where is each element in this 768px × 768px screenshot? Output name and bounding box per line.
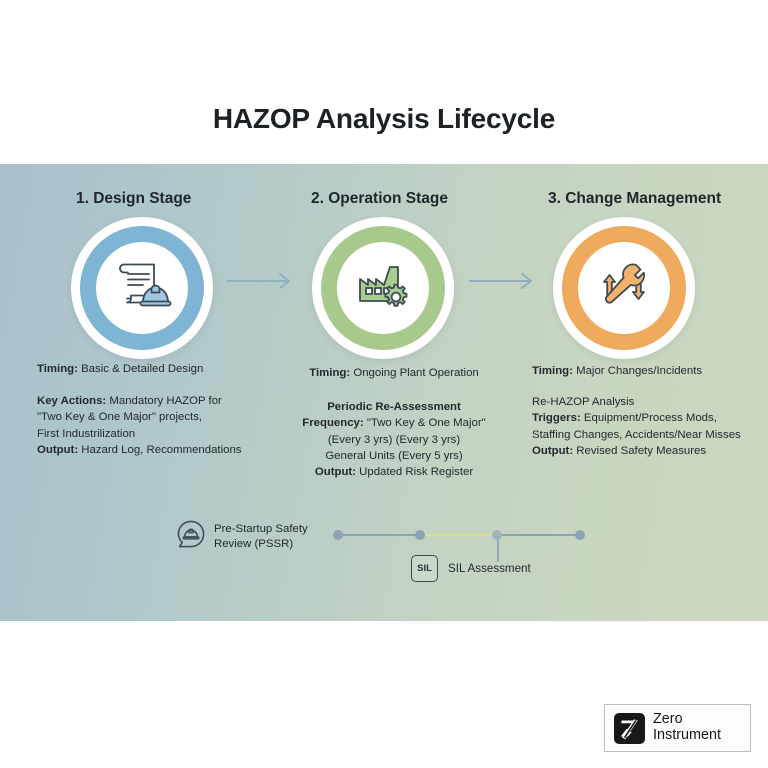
detail-line: First Industrilization xyxy=(37,426,287,442)
infographic-canvas: HAZOP Analysis Lifecycle 1. Design Stage… xyxy=(0,0,768,768)
timing-label-operation: Timing: xyxy=(309,367,350,379)
timeline-segment-1 xyxy=(338,534,420,536)
sil-badge: SIL xyxy=(411,555,438,582)
detail-label: Periodic Re-Assessment xyxy=(327,401,461,413)
stage-details-design: Timing: Basic & Detailed Design Key Acti… xyxy=(37,361,287,458)
spacer xyxy=(532,379,764,394)
stage-details-change-management: Timing: Major Changes/Incidents Re-HAZOP… xyxy=(532,363,764,459)
spacer xyxy=(283,381,505,399)
detail-line: Frequency: "Two Key & One Major" xyxy=(283,415,505,431)
hardhat-speech-bubble-icon xyxy=(176,519,206,554)
logo-text-line1: Zero xyxy=(653,712,721,728)
timeline-section: Pre-Startup Safety Review (PSSR) SIL SIL… xyxy=(0,508,768,598)
timing-label-design: Timing: xyxy=(37,363,78,375)
detail-line: General Units (Every 5 yrs) xyxy=(283,448,505,464)
detail-value: Mandatory HAZOP for xyxy=(106,395,222,407)
page-title: HAZOP Analysis Lifecycle xyxy=(0,103,768,135)
stage-icon-wrap-operation xyxy=(337,242,429,334)
detail-line: Output: Hazard Log, Recommendations xyxy=(37,442,287,458)
detail-label: Frequency: xyxy=(302,417,363,429)
detail-line: Periodic Re-Assessment xyxy=(283,399,505,415)
detail-value: "Two Key & One Major" xyxy=(364,417,486,429)
detail-label: Key Actions: xyxy=(37,395,106,407)
logo-text-line2: Instrument xyxy=(653,728,721,744)
timeline-track xyxy=(338,530,580,540)
detail-value: Staffing Changes, Accidents/Near Misses xyxy=(532,429,741,441)
detail-value: Updated Risk Register xyxy=(356,466,473,478)
timeline-dot[interactable] xyxy=(575,530,585,540)
stage-heading-operation: 2. Operation Stage xyxy=(311,190,448,208)
stage-heading-change-management: 3. Change Management xyxy=(548,190,721,208)
pssr-label-line1: Pre-Startup Safety xyxy=(214,522,308,536)
stage-icon-wrap-design xyxy=(96,242,188,334)
pssr-label: Pre-Startup Safety Review (PSSR) xyxy=(214,522,308,551)
timing-value-change: Major Changes/Incidents xyxy=(573,365,702,377)
blueprint-hardhat-icon xyxy=(111,260,173,317)
detail-value: (Every 3 yrs) (Every 3 yrs) xyxy=(328,434,460,446)
stage-circle-operation xyxy=(312,217,454,359)
stage-circle-design xyxy=(71,217,213,359)
detail-label: Triggers: xyxy=(532,412,581,424)
stage-details-operation: Timing: Ongoing Plant Operation Periodic… xyxy=(283,365,505,480)
detail-label: Output: xyxy=(532,445,573,457)
pssr-label-line2: Review (PSSR) xyxy=(214,537,308,551)
timing-line-design: Timing: Basic & Detailed Design xyxy=(37,361,287,377)
detail-value: General Units (Every 5 yrs) xyxy=(325,450,462,462)
detail-line: Triggers: Equipment/Process Mods, xyxy=(532,410,764,426)
timeline-dot[interactable] xyxy=(415,530,425,540)
spacer xyxy=(37,377,287,393)
detail-value: Revised Safety Measures xyxy=(573,445,706,457)
brand-logo: Zero Instrument xyxy=(604,704,751,752)
detail-line: Output: Updated Risk Register xyxy=(283,464,505,480)
zero-instrument-logo-icon xyxy=(614,713,645,744)
detail-line: Re-HAZOP Analysis xyxy=(532,394,764,410)
timing-label-change: Timing: xyxy=(532,365,573,377)
timeline-dot[interactable] xyxy=(333,530,343,540)
stage-icon-wrap-change-management xyxy=(578,242,670,334)
pssr-item: Pre-Startup Safety Review (PSSR) xyxy=(176,519,308,554)
detail-value: First Industrilization xyxy=(37,428,135,440)
sil-item: SIL SIL Assessment xyxy=(411,555,531,582)
factory-gear-icon xyxy=(354,261,412,316)
detail-value: Re-HAZOP Analysis xyxy=(532,396,634,408)
detail-line: Staffing Changes, Accidents/Near Misses xyxy=(532,427,764,443)
timeline-segment-3 xyxy=(497,534,580,536)
stage-heading-design: 1. Design Stage xyxy=(76,190,191,208)
detail-value: "Two Key & One Major" projects, xyxy=(37,411,202,423)
timing-value-design: Basic & Detailed Design xyxy=(78,363,203,375)
sil-label: SIL Assessment xyxy=(448,562,531,575)
detail-line: (Every 3 yrs) (Every 3 yrs) xyxy=(283,432,505,448)
wrench-arrows-icon xyxy=(595,260,653,317)
arrow-design-to-operation xyxy=(227,272,299,295)
timing-line-operation: Timing: Ongoing Plant Operation xyxy=(283,365,505,381)
logo-text: Zero Instrument xyxy=(653,712,721,743)
detail-value: Equipment/Process Mods, xyxy=(581,412,717,424)
arrow-operation-to-change xyxy=(469,272,541,295)
detail-line: Key Actions: Mandatory HAZOP for xyxy=(37,393,287,409)
detail-value: Hazard Log, Recommendations xyxy=(78,444,241,456)
stage-circle-change-management xyxy=(553,217,695,359)
timing-value-operation: Ongoing Plant Operation xyxy=(350,367,479,379)
timeline-segment-2 xyxy=(420,534,497,536)
detail-line: Output: Revised Safety Measures xyxy=(532,443,764,459)
detail-line: "Two Key & One Major" projects, xyxy=(37,409,287,425)
timing-line-change: Timing: Major Changes/Incidents xyxy=(532,363,764,379)
detail-label: Output: xyxy=(37,444,78,456)
detail-label: Output: xyxy=(315,466,356,478)
